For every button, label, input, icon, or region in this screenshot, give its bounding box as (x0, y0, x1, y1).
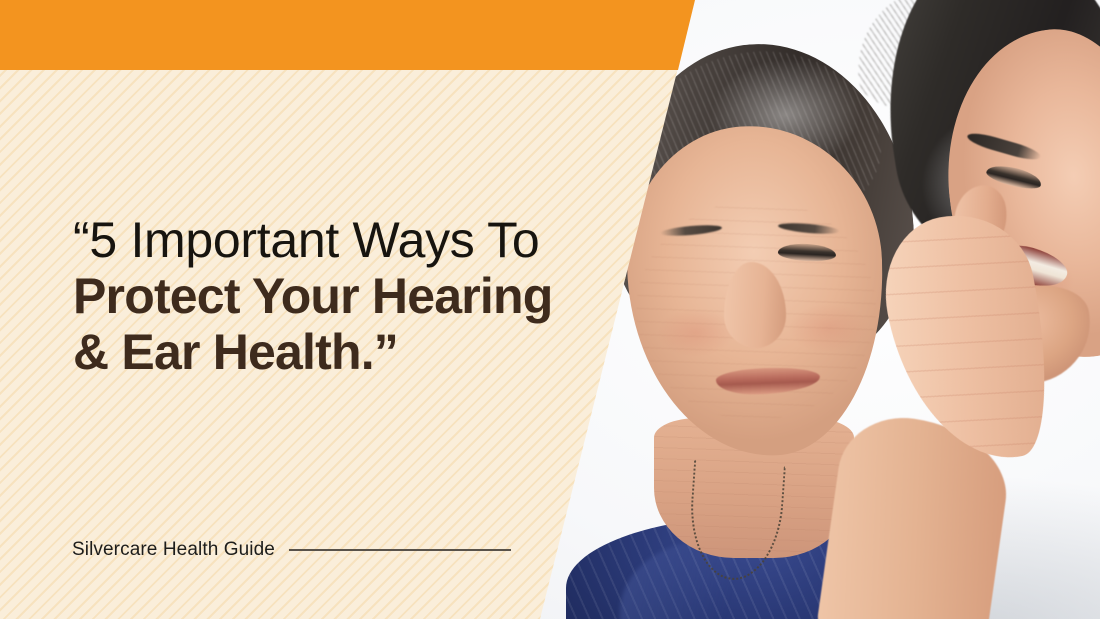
headline-line-2: Protect Your Hearing (73, 268, 543, 324)
page-title: “5 Important Ways To Protect Your Hearin… (73, 212, 543, 380)
brand-footer: Silvercare Health Guide (72, 539, 532, 561)
hearing-health-banner: “5 Important Ways To Protect Your Hearin… (0, 0, 1100, 619)
headline-line-1: “5 Important Ways To (73, 212, 543, 268)
footer-divider-rule (289, 549, 511, 551)
headline-line-3: & Ear Health.” (73, 324, 543, 380)
brand-label: Silvercare Health Guide (72, 539, 275, 561)
